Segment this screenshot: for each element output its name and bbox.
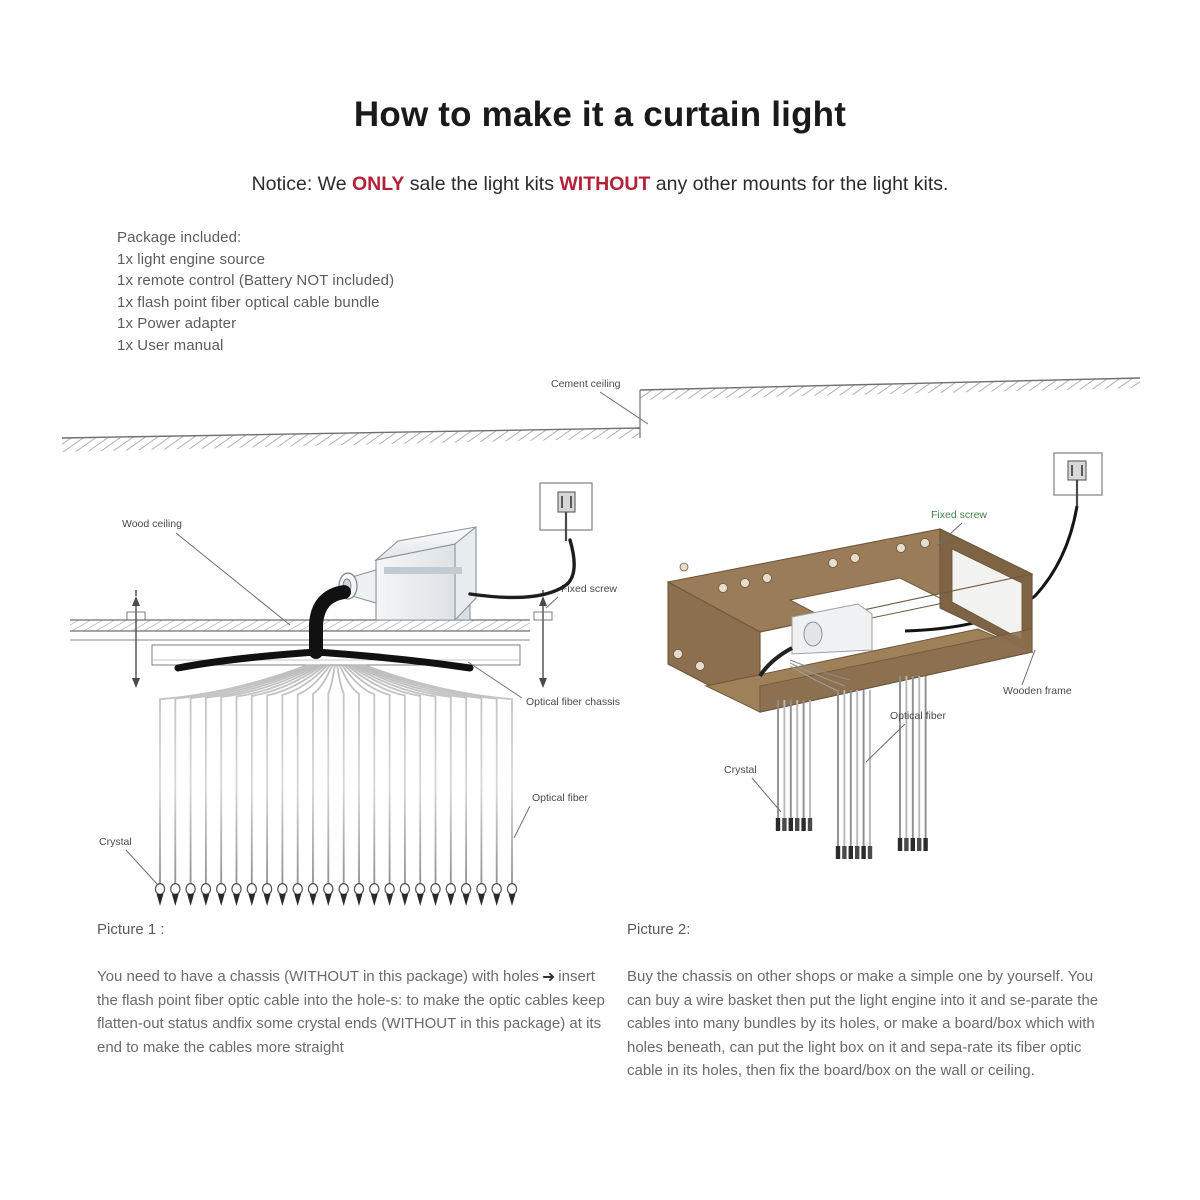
crystal-bead: [186, 884, 195, 895]
wood-ceiling-hatch: [70, 620, 530, 631]
crystal-bead: [477, 884, 486, 895]
screw-pin-left-head: [132, 596, 140, 606]
crystal-tip: [187, 894, 194, 906]
crystal-end: [917, 838, 921, 851]
screw-dot: [763, 574, 772, 583]
right-arrow-icon: ➜: [539, 970, 558, 986]
crystal-end: [923, 838, 927, 851]
optical-fiber-strand: [345, 665, 390, 886]
label-optical-fiber-chassis: Optical fiber chassis: [526, 696, 620, 708]
optical-fiber-strand: [337, 665, 344, 886]
crystal-bead: [507, 884, 516, 895]
crystal-end: [861, 846, 865, 859]
crystal-tip: [279, 894, 286, 906]
crystal-tip: [371, 894, 378, 906]
optical-fiber-strand: [357, 665, 466, 886]
crystal-tip: [294, 894, 301, 906]
crystal-tip: [386, 894, 393, 906]
cement-ceiling-hatch-left: [62, 428, 640, 452]
crystal-tip: [248, 894, 255, 906]
screw-dot: [674, 650, 683, 659]
crystal-tip: [478, 894, 485, 906]
crystal-tip: [356, 894, 363, 906]
crystal-bead: [293, 884, 302, 895]
crystal-bead: [385, 884, 394, 895]
label-crystal-left: Crystal: [99, 836, 132, 848]
crystal-tip: [172, 894, 179, 906]
optical-fiber-strands-left: [155, 665, 516, 906]
screw-dot: [851, 554, 860, 563]
label-wood-ceiling: Wood ceiling: [122, 518, 182, 530]
inner-engine-lens: [804, 622, 822, 646]
picture2-caption-body: Buy the chassis on other shops or make a…: [627, 965, 1114, 1083]
crystal-end: [911, 838, 915, 851]
optical-fiber-strand: [282, 665, 327, 886]
crystal-bead: [263, 884, 272, 895]
leader-optical-fiber-left: [514, 806, 530, 838]
light-engine-group: [339, 527, 476, 620]
crystal-bead: [462, 884, 471, 895]
fixed-screw-left-group: [127, 590, 145, 688]
optical-fiber-strand: [252, 665, 323, 886]
crystal-bead: [446, 884, 455, 895]
crystal-bead: [278, 884, 287, 895]
crystal-bead: [171, 884, 180, 895]
crystal-end: [904, 838, 908, 851]
optical-fiber-strand: [352, 665, 436, 886]
instruction-sheet: How to make it a curtain light Notice: W…: [0, 0, 1200, 1200]
crystal-end: [849, 846, 853, 859]
crystal-bead: [339, 884, 348, 895]
crystal-end: [795, 818, 799, 831]
optical-fiber-strand: [313, 665, 332, 886]
picture2-group: Fixed screw Wooden frame Optical fiber C…: [668, 453, 1102, 859]
crystal-bead: [492, 884, 501, 895]
crystal-tip: [417, 894, 424, 906]
crystal-bead: [416, 884, 425, 895]
crystal-bead: [217, 884, 226, 895]
crystal-bead: [247, 884, 256, 895]
crystal-end: [801, 818, 805, 831]
label-cement-ceiling: Cement ceiling: [551, 378, 621, 390]
crystal-end: [868, 846, 872, 859]
screw-dot: [897, 544, 906, 553]
crystal-tip: [203, 894, 210, 906]
optical-fiber-strand: [328, 665, 335, 886]
label-optical-fiber-left: Optical fiber: [532, 792, 589, 804]
crystal-tip: [325, 894, 332, 906]
crystal-tip: [447, 894, 454, 906]
screw-dot: [741, 579, 750, 588]
screw-dot: [829, 559, 838, 568]
cement-ceiling-hatch-right: [640, 378, 1140, 400]
power-cable-left: [470, 540, 574, 597]
leader-crystal-left: [126, 850, 157, 884]
screw-dot: [921, 539, 930, 548]
optical-fiber-strand: [350, 665, 421, 886]
outlet-socket-right: [1068, 461, 1086, 480]
leader-wooden-frame: [1022, 650, 1035, 685]
wall-outlet-left-group: [540, 483, 592, 541]
fixed-screw-right-group: Fixed screw: [534, 583, 617, 688]
screw-dot: [696, 662, 705, 671]
crystal-bead: [308, 884, 317, 895]
crystal-end: [776, 818, 780, 831]
crystal-bead: [232, 884, 241, 895]
crystal-tip: [509, 894, 516, 906]
crystal-tip: [218, 894, 225, 906]
leader-optical-fiber-chassis: [468, 662, 522, 698]
crystal-bead: [324, 884, 333, 895]
leader-fixed-screw-p1: [546, 597, 558, 608]
picture1-caption-heading: Picture 1 :: [97, 921, 165, 938]
crystal-tip: [493, 894, 500, 906]
light-engine-vent: [384, 567, 462, 574]
crystal-bead: [201, 884, 210, 895]
crystal-tip: [340, 894, 347, 906]
optical-fiber-strand: [237, 665, 321, 886]
crystal-end: [789, 818, 793, 831]
crystal-bead: [354, 884, 363, 895]
label-fixed-screw-right: Fixed screw: [931, 509, 987, 521]
crystal-end: [855, 846, 859, 859]
crystal-end: [808, 818, 812, 831]
leader-crystal-right: [752, 778, 781, 812]
crystal-end: [782, 818, 786, 831]
wooden-frame-group: Fixed screw Wooden frame: [668, 509, 1072, 712]
screw-dot: [719, 584, 728, 593]
crystal-bead: [431, 884, 440, 895]
outlet-socket-left: [558, 492, 575, 512]
crystal-tip: [432, 894, 439, 906]
optical-fiber-strand: [347, 665, 405, 886]
crystal-end: [842, 846, 846, 859]
crystal-tip: [264, 894, 271, 906]
crystal-bead: [400, 884, 409, 895]
crystal-tip: [402, 894, 409, 906]
label-fixed-screw-left-diagram: Fixed screw: [561, 583, 617, 595]
picture2-caption-heading: Picture 2:: [627, 921, 690, 938]
screw-pin-left-tip: [132, 678, 140, 688]
screw-pin-right-tip: [539, 678, 547, 688]
optical-fiber-strand: [340, 665, 359, 886]
label-crystal-right: Crystal: [724, 764, 757, 776]
label-optical-fiber-right: Optical fiber: [890, 710, 947, 722]
optical-fiber-strand: [267, 665, 325, 886]
crystal-tip: [233, 894, 240, 906]
crystal-end: [836, 846, 840, 859]
crystal-end: [898, 838, 902, 851]
screw-pin-right-head: [539, 596, 547, 606]
pic1-text-a: You need to have a chassis (WITHOUT in t…: [97, 968, 539, 985]
label-wooden-frame: Wooden frame: [1003, 685, 1072, 697]
cement-ceiling-group: Cement ceiling: [62, 378, 1140, 452]
crystal-tip: [157, 894, 164, 906]
leader-wood-ceiling: [176, 533, 290, 625]
crystal-tip: [463, 894, 470, 906]
crystal-tip: [310, 894, 317, 906]
crystal-bead: [155, 884, 164, 895]
optical-fiber-strand: [206, 665, 315, 886]
crystal-bead: [370, 884, 379, 895]
picture1-caption-body: You need to have a chassis (WITHOUT in t…: [97, 965, 609, 1059]
wall-outlet-right-group: [1054, 453, 1102, 506]
screw-dot: [680, 563, 688, 571]
picture1-group: Wood ceiling Optical fiber chassis: [70, 483, 620, 906]
